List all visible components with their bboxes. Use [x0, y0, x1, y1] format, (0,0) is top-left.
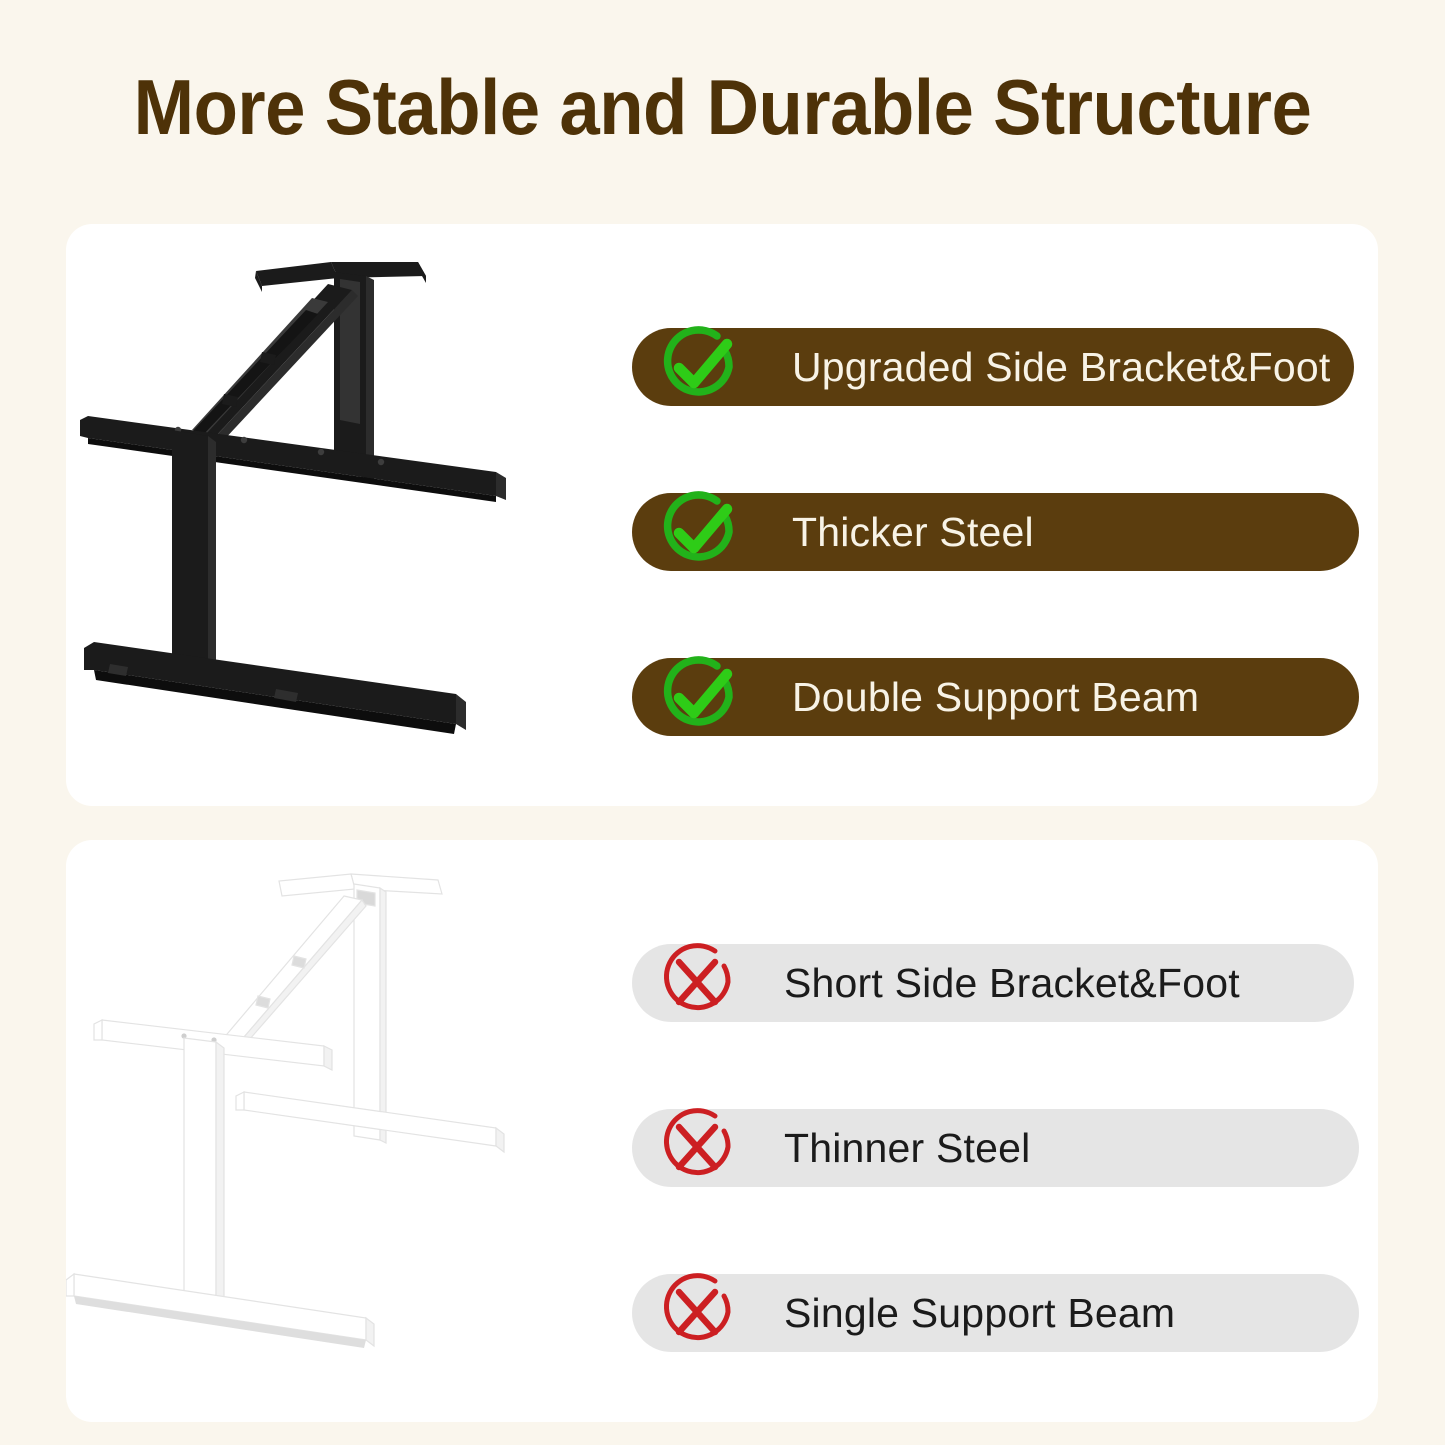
feature-list-bad: Short Side Bracket&Foot Thinner Steel [595, 840, 1378, 1422]
check-circle-icon [655, 654, 747, 740]
feature-label: Short Side Bracket&Foot [784, 960, 1240, 1006]
check-circle-icon [655, 324, 747, 410]
black-desk-frame-illustration [66, 224, 596, 806]
feature-label: Upgraded Side Bracket&Foot [792, 344, 1331, 390]
cross-circle-icon [655, 1105, 747, 1191]
check-circle-icon [655, 489, 747, 575]
cross-circle-icon [655, 940, 747, 1026]
comparison-card-bad: Short Side Bracket&Foot Thinner Steel [66, 840, 1378, 1422]
page-title: More Stable and Durable Structure [51, 62, 1395, 152]
cross-circle-icon [655, 1270, 747, 1356]
feature-label: Double Support Beam [792, 674, 1199, 720]
comparison-card-good: Upgraded Side Bracket&Foot Thicker Steel [66, 224, 1378, 806]
feature-label: Single Support Beam [784, 1290, 1175, 1336]
feature-label: Thicker Steel [792, 509, 1034, 555]
feature-list-good: Upgraded Side Bracket&Foot Thicker Steel [595, 224, 1378, 806]
feature-label: Thinner Steel [784, 1125, 1030, 1171]
white-desk-frame-illustration [66, 840, 596, 1422]
